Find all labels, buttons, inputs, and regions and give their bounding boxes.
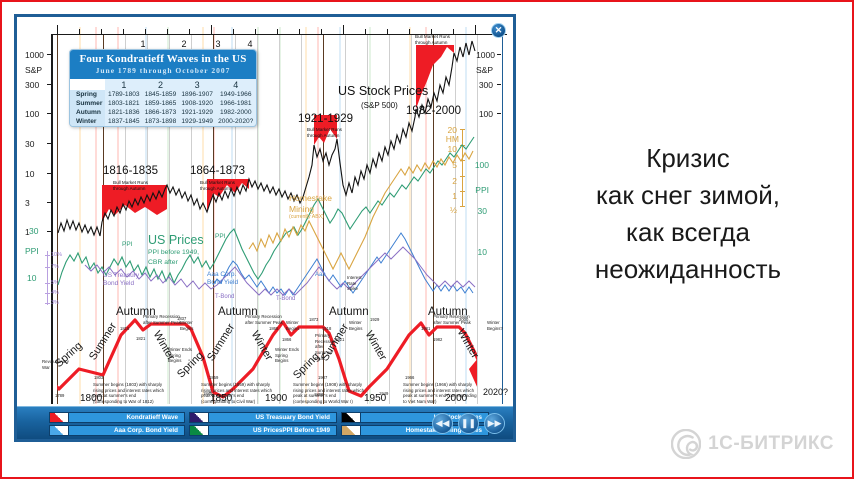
table-subtitle: June 1789 through October 2007: [74, 66, 252, 75]
recession-line3: after: [315, 344, 324, 349]
revolutionary-war-note: Revolutionary War: [42, 359, 69, 370]
pause-icon[interactable]: ❚❚: [458, 413, 479, 434]
slide-quote: Кризис как снег зимой, как всегда неожид…: [532, 140, 844, 288]
cycle-number-3: 3: [215, 39, 220, 49]
table-row: Autumn 1821-1836 1866-1873 1921-1929 198…: [70, 108, 256, 117]
cell-summer-2: 1859-1865: [142, 99, 179, 108]
bitrix-logo: 1C-БИТРИКС: [671, 429, 834, 459]
ppi-tag-mid: PPI: [215, 233, 225, 240]
year-marker-1921: 1921: [335, 337, 344, 342]
cell-winter-2: 1873-1898: [142, 117, 179, 126]
homestake-line3: (currently ABX): [289, 214, 332, 221]
purple-white-split-swatch: [189, 412, 209, 423]
treasury-line2: Bond Yield: [103, 280, 134, 287]
us-treasury-bond-yield-label: US Treasury Bond Yield: [103, 272, 139, 289]
year-marker-1966: 1966: [405, 375, 414, 380]
bull-run-sub-line1: Bull Market Runs: [415, 34, 450, 39]
future-label-2020: 2020?: [483, 387, 508, 397]
bull-run-sub-line1: Bull Market Runs: [200, 180, 235, 185]
interest-rate-spike-note: Interest Rate Spike: [347, 275, 362, 292]
bull-run-sub-3: Bull Market Runs through Autumn: [307, 127, 342, 138]
year-marker-1907: 1907: [318, 375, 327, 380]
legend-item-aaa-corp-bond-yield[interactable]: Aaa Corp. Bond Yield: [49, 425, 185, 436]
season-word-autumn-3: Autumn: [329, 306, 369, 318]
year-marker-1929: 1929: [370, 317, 379, 322]
recession-line5: Peak: [315, 356, 325, 361]
year-marker-1803: 1803: [94, 375, 103, 380]
cell-spring-3: 1896-1907: [179, 90, 216, 99]
legend-item-us-treasury-bond-yield[interactable]: US Treasuary Bond Yield: [189, 412, 337, 423]
cell-summer-1: 1803-1821: [105, 99, 142, 108]
winter-ends-note-2: Winter Ends Spring Begins: [275, 347, 299, 364]
rev-war-line1: Revolutionary: [42, 359, 69, 364]
aaa-corp-bond-yield-label: Aaa Corp. Bond Yield: [207, 271, 238, 288]
bull-run-label-1982-2000: 1982-2000: [406, 105, 461, 117]
cell-autumn-2: 1866-1873: [142, 108, 179, 117]
bull-run-sub-line2: through Autumn: [113, 186, 145, 191]
recession-line4: Summer: [315, 350, 332, 355]
table-col-1: 1: [105, 79, 142, 90]
aaa-tag: Aaa: [315, 272, 326, 278]
cell-autumn-1: 1821-1836: [105, 108, 142, 117]
year-marker-1821: 1821: [136, 336, 145, 341]
bull-run-sub-line2: through Autumn: [307, 133, 339, 138]
table-col-4: 4: [216, 79, 257, 90]
cycle-number-1: 1: [140, 39, 145, 49]
legend-label: Aaa Corp. Bond Yield: [69, 425, 185, 436]
black-white-split-swatch: [341, 412, 361, 423]
bull-run-fill-4: [416, 45, 454, 109]
row-label-winter: Winter: [70, 117, 105, 126]
chart-legend: Kondratieff Wave US Treasuary Bond Yield…: [17, 406, 513, 439]
homestake-line2: Mining: [289, 204, 314, 214]
year-marker-1866: 1866: [282, 337, 291, 342]
bull-run-sub-line1: Bull Market Runs: [307, 127, 342, 132]
summer-note-4: Summer begins (1966) with sharply rising…: [403, 382, 479, 405]
row-label-spring: Spring: [70, 90, 105, 99]
rewind-icon[interactable]: ◀◀: [432, 413, 453, 434]
treasury-line1: US Treasury: [103, 272, 139, 279]
bull-run-sub-line2: through Autumn: [415, 40, 447, 45]
legend-label: US PricesPPI Before 1949: [209, 425, 337, 436]
cell-winter-3: 1929-1949: [179, 117, 216, 126]
us-stock-prices-subtitle: (S&P 500): [361, 101, 398, 110]
recession-line2: after Summer Peak: [245, 320, 283, 325]
table-title: Four Kondratieff Waves in the US: [74, 53, 252, 65]
cell-summer-4: 1966-1981: [216, 99, 257, 108]
bull-run-sub-4: Bull Market Runs through Autumn: [415, 34, 450, 45]
slide-root: { "slide": { "quote_lines": ["Кризис", "…: [0, 0, 854, 479]
bull-run-label-1816-1835: 1816-1835: [103, 165, 158, 177]
winter-begins-note-1: Winter Begins: [180, 320, 202, 331]
quote-line-4: неожиданность: [532, 251, 844, 288]
year-marker-1981: 1981: [421, 326, 430, 331]
summer-note-3: Summer begins (1908) with sharply rising…: [293, 382, 365, 405]
quote-line-3: как всегда: [532, 214, 844, 251]
table-header: Four Kondratieff Waves in the US June 17…: [70, 50, 256, 79]
tan-white-split-swatch: [341, 425, 361, 436]
us-prices-sub: PPI before 1949, CBR after: [148, 248, 199, 268]
t-bond-tag-right: T-Bond: [276, 296, 295, 302]
cell-winter-4: 2000-2020?: [216, 117, 257, 126]
year-marker-1837: 1837: [177, 316, 186, 321]
blue-white-split-swatch: [49, 425, 69, 436]
cell-spring-2: 1845-1859: [142, 90, 179, 99]
rev-war-line2: War: [42, 365, 50, 370]
ppi-tag-left: PPI: [122, 241, 132, 248]
homestake-line1: Homestake: [289, 193, 332, 203]
legend-item-us-prices-ppi[interactable]: US PricesPPI Before 1949: [189, 425, 337, 436]
primary-recession-note-1: Primary Recession after Summer Peak: [143, 314, 181, 325]
winter-begins-note-3: Winter Begins: [349, 320, 371, 331]
table-col-3: 3: [179, 79, 216, 90]
table-row: Spring 1789-1803 1845-1859 1896-1907 194…: [70, 90, 256, 99]
year-marker-1789: 1789: [55, 393, 64, 398]
year-marker-1859: 1859: [209, 375, 218, 380]
legend-label: Kondratieff Wave: [69, 412, 185, 423]
cycle-number-4: 4: [247, 39, 252, 49]
cell-summer-3: 1908-1920: [179, 99, 216, 108]
rate-spike-line3: Spike: [347, 286, 358, 291]
decade-label-2000: 2000: [445, 393, 467, 404]
summer-note-1: Summer begins (1803) with sharply rising…: [93, 382, 165, 405]
cell-autumn-4: 1982-2000: [216, 108, 257, 117]
recession-line1: Primary: [315, 333, 330, 338]
table-col-2: 2: [142, 79, 179, 90]
legend-label: US Treasuary Bond Yield: [209, 412, 337, 423]
bull-run-sub-2: Bull Market Runs through Autumn: [200, 180, 235, 191]
quote-line-1: Кризис: [532, 140, 844, 177]
table-column-header-row: 1 2 3 4: [70, 79, 256, 90]
series-homestake-mining: [249, 151, 473, 269]
cell-autumn-3: 1921-1929: [179, 108, 216, 117]
row-label-autumn: Autumn: [70, 108, 105, 117]
recession-line1: Primary Recession: [143, 314, 180, 319]
year-marker-1896: 1896: [314, 392, 323, 397]
green-white-split-swatch: [189, 425, 209, 436]
decade-label-1950: 1950: [364, 393, 386, 404]
recession-line1: Primary Recession: [245, 314, 282, 319]
decade-label-1800: 1800: [80, 393, 102, 404]
rate-spike-line1: Interest: [347, 275, 362, 280]
table-row: Summer 1803-1821 1859-1865 1908-1920 196…: [70, 99, 256, 108]
chart-plot-area: 1000 S&P 300 100 30 10 3 1 30 PPI 10 10%…: [17, 17, 513, 412]
bitrix-logo-text: 1C-БИТРИКС: [708, 433, 834, 455]
decade-label-1850: 1850: [210, 393, 232, 404]
year-marker-1816: 1816: [120, 326, 129, 331]
table-row: Winter 1837-1845 1873-1898 1929-1949 200…: [70, 117, 256, 126]
us-prices-title: US Prices: [148, 233, 204, 247]
us-prices-sub-line1: PPI before 1949,: [148, 249, 199, 256]
recession-line2: after Summer Peak: [143, 320, 181, 325]
winter-ends-note-1: Winter Ends Spring Begins: [168, 347, 192, 364]
series-aaa-corp-bond-yield: [213, 233, 473, 295]
row-label-summer: Summer: [70, 99, 105, 108]
cell-spring-4: 1949-1966: [216, 90, 257, 99]
media-controls: ◀◀ ❚❚ ▶▶: [432, 413, 505, 434]
close-icon[interactable]: ✕: [491, 23, 506, 38]
recession-line2: Recession: [315, 339, 336, 344]
bull-run-sub-1: Bull Market Runs through Autumn: [113, 180, 148, 191]
cell-winter-1: 1837-1845: [105, 117, 142, 126]
rate-spike-line2: Rate: [347, 281, 356, 286]
quote-line-2: как снег зимой,: [532, 177, 844, 214]
decade-label-1900: 1900: [265, 393, 287, 404]
primary-recession-note-2: Primary Recession after Summer Peak: [245, 314, 283, 325]
year-marker-1865: 1865: [269, 326, 278, 331]
us-prices-sub-line2: CBR after: [148, 259, 178, 266]
year-marker-1873: 1873: [309, 317, 318, 322]
table-corner-cell: [70, 79, 105, 90]
kondratieff-waves-table: Four Kondratieff Waves in the US June 17…: [69, 49, 257, 127]
homestake-mining-label: Homestake Mining (currently ABX): [289, 193, 332, 221]
chart-panel: ✕: [14, 14, 516, 442]
bull-run-sub-line2: through Autumn: [200, 186, 232, 191]
legend-item-kondratieff-wave[interactable]: Kondratieff Wave: [49, 412, 185, 423]
aaa-corp-line1: Aaa Corp.: [207, 271, 236, 278]
winter-begins-note-2: Winter Begins: [286, 320, 308, 331]
forward-icon[interactable]: ▶▶: [484, 413, 505, 434]
winter-begins-note-4: Winter Begins?: [487, 320, 509, 331]
bull-run-label-1921-1929: 1921-1929: [298, 113, 353, 125]
year-marker-1918: 1918: [322, 326, 331, 331]
bull-run-sub-line1: Bull Market Runs: [113, 180, 148, 185]
cell-spring-1: 1789-1803: [105, 90, 142, 99]
bull-run-label-1864-1873: 1864-1873: [190, 165, 245, 177]
t-bond-tag-mid: T-Bond: [215, 294, 234, 300]
cycle-number-2: 2: [181, 39, 186, 49]
aaa-corp-line2: Bond Yield: [207, 279, 238, 286]
red-white-split-swatch: [49, 412, 69, 423]
bitrix-logo-icon: [671, 429, 701, 459]
year-marker-1982: 1982: [433, 337, 442, 342]
year-marker-2000: 2000: [459, 317, 468, 322]
us-stock-prices-title: US Stock Prices: [338, 84, 428, 98]
